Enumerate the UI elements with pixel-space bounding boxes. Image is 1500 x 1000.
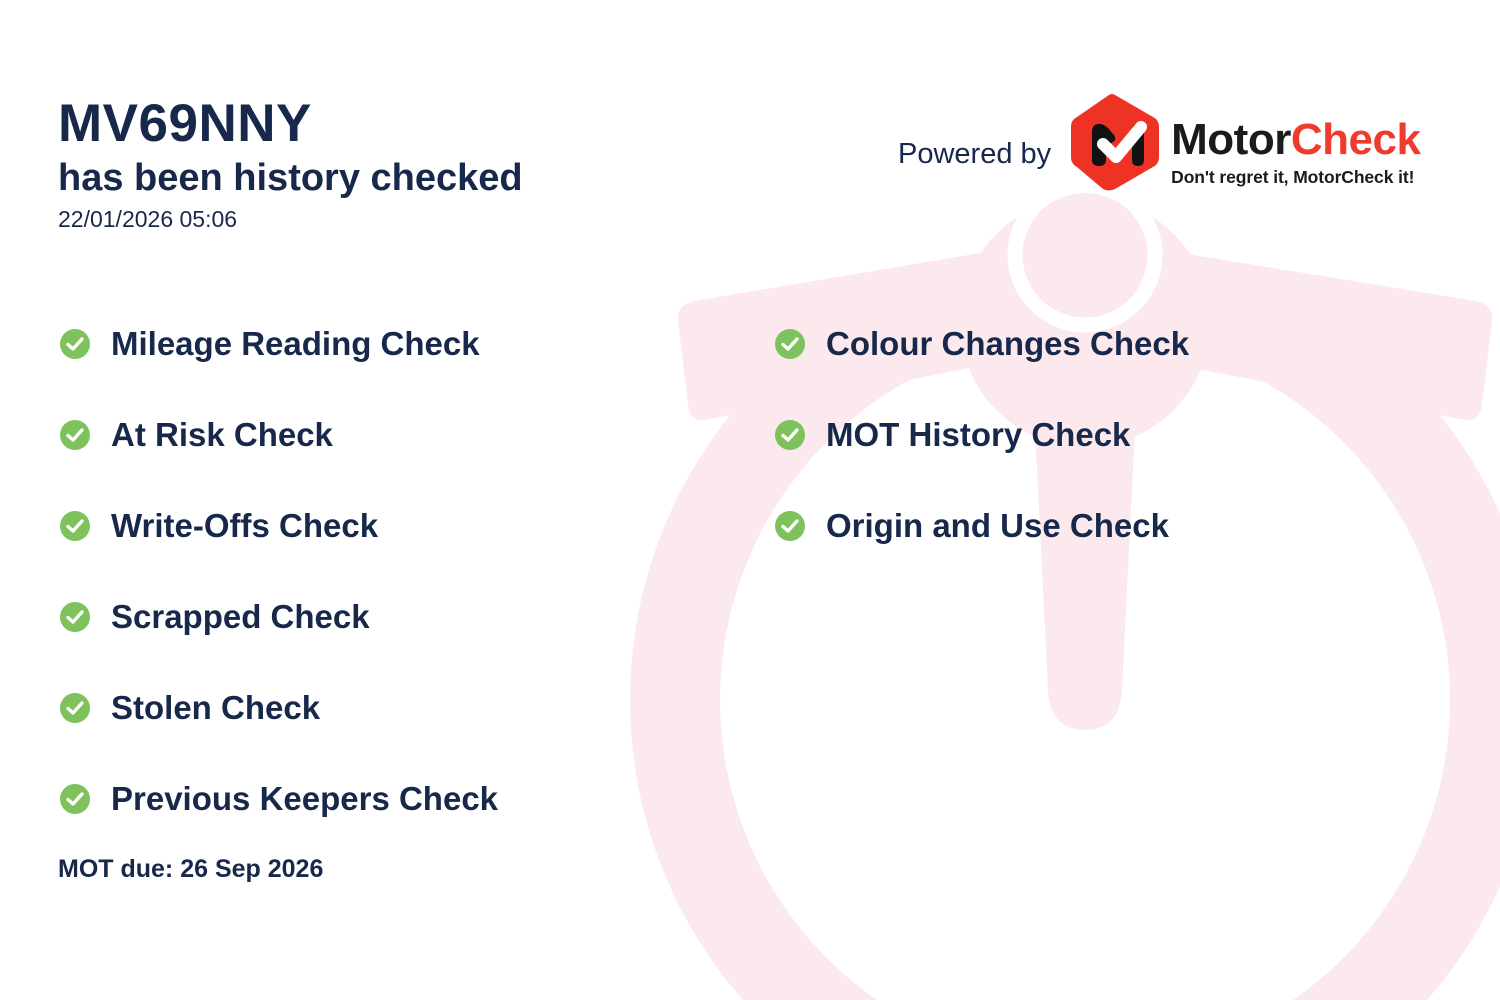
check-circle-icon	[60, 693, 90, 723]
motorcheck-hexagon-icon	[1067, 92, 1163, 192]
wordmark-motor: Motor	[1171, 115, 1291, 164]
check-item: Origin and Use Check	[775, 480, 1189, 571]
check-item-label: Colour Changes Check	[826, 327, 1189, 360]
check-circle-icon	[60, 511, 90, 541]
check-circle-icon	[775, 329, 805, 359]
check-timestamp: 22/01/2026 05:06	[58, 206, 523, 233]
header-block: MV69NNY has been history checked 22/01/2…	[58, 96, 523, 233]
check-circle-icon	[775, 511, 805, 541]
check-item: MOT History Check	[775, 389, 1189, 480]
check-item-label: MOT History Check	[826, 418, 1130, 451]
motorcheck-wordmark: MotorCheck	[1171, 118, 1420, 162]
check-item: Stolen Check	[60, 662, 498, 753]
check-item-label: Previous Keepers Check	[111, 782, 498, 815]
brand-tagline: Don't regret it, MotorCheck it!	[1171, 167, 1420, 188]
check-item: Write-Offs Check	[60, 480, 498, 571]
check-item: Previous Keepers Check	[60, 753, 498, 844]
check-circle-icon	[775, 420, 805, 450]
checks-column-left: Mileage Reading Check At Risk Check Writ…	[60, 298, 498, 844]
check-item-label: Mileage Reading Check	[111, 327, 480, 360]
check-item-label: Origin and Use Check	[826, 509, 1169, 542]
check-item-label: At Risk Check	[111, 418, 333, 451]
page-title: has been history checked	[58, 156, 523, 201]
check-circle-icon	[60, 420, 90, 450]
mot-due-label: MOT due: 26 Sep 2026	[58, 855, 323, 884]
check-item: At Risk Check	[60, 389, 498, 480]
vehicle-registration: MV69NNY	[58, 96, 523, 152]
check-item: Mileage Reading Check	[60, 298, 498, 389]
history-check-summary-card: MV69NNY has been history checked 22/01/2…	[0, 0, 1500, 1000]
powered-by-label: Powered by	[898, 138, 1051, 171]
wordmark-check: Check	[1291, 115, 1421, 164]
check-item-label: Scrapped Check	[111, 600, 370, 633]
check-item: Colour Changes Check	[775, 298, 1189, 389]
check-item: Scrapped Check	[60, 571, 498, 662]
motorcheck-wordmark-block: MotorCheck Don't regret it, MotorCheck i…	[1171, 118, 1420, 188]
check-item-label: Write-Offs Check	[111, 509, 378, 542]
check-item-label: Stolen Check	[111, 691, 320, 724]
brand-bar: Powered by MotorCheck Don't regret it, M…	[898, 92, 1420, 192]
check-circle-icon	[60, 784, 90, 814]
check-circle-icon	[60, 329, 90, 359]
checks-column-right: Colour Changes Check MOT History Check O…	[775, 298, 1189, 571]
check-circle-icon	[60, 602, 90, 632]
